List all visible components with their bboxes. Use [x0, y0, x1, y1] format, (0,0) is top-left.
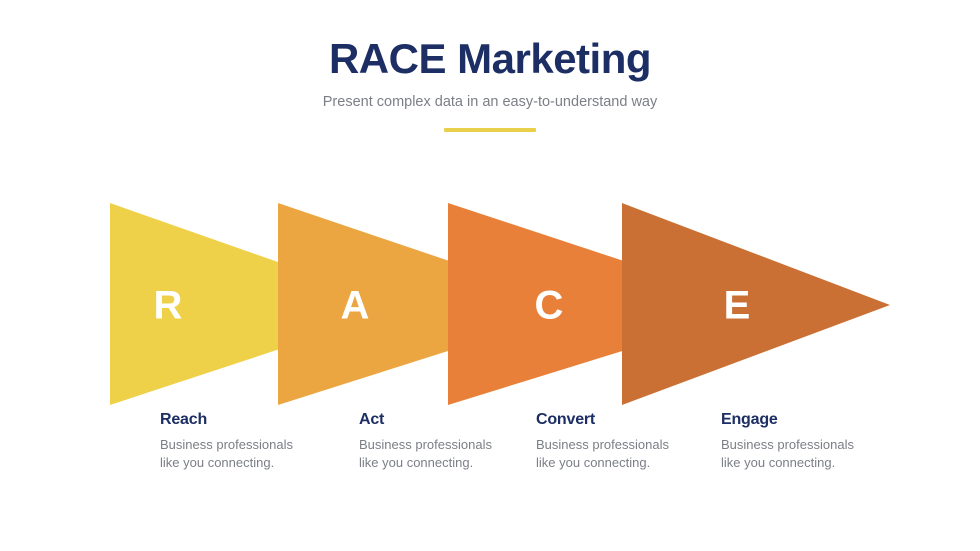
arrow-shape-act[interactable]: [278, 203, 470, 405]
caption-reach: Reach Business professionals like you co…: [160, 411, 335, 473]
arrow-letter-act: A: [341, 284, 370, 328]
caption-convert: Convert Business professionals like you …: [536, 411, 711, 473]
funnel-step-engage[interactable]: E: [622, 203, 890, 405]
caption-body-convert: Business professionals like you connecti…: [536, 436, 711, 473]
funnel-step-reach[interactable]: R: [110, 203, 295, 405]
slide-canvas: RACE Marketing Present complex data in a…: [0, 0, 980, 551]
caption-title-convert: Convert: [536, 411, 711, 429]
caption-title-reach: Reach: [160, 411, 335, 429]
arrow-shape-engage[interactable]: [622, 203, 890, 405]
caption-body-act: Business professionals like you connecti…: [359, 436, 534, 473]
caption-act: Act Business professionals like you conn…: [359, 411, 534, 473]
funnel-step-act[interactable]: A: [278, 203, 470, 405]
caption-title-engage: Engage: [721, 411, 896, 429]
caption-body-reach: Business professionals like you connecti…: [160, 436, 335, 473]
funnel-step-convert[interactable]: C: [448, 203, 645, 405]
arrow-letter-engage: E: [724, 284, 751, 328]
caption-engage: Engage Business professionals like you c…: [721, 411, 896, 473]
arrow-letter-convert: C: [535, 284, 564, 328]
caption-body-engage: Business professionals like you connecti…: [721, 436, 896, 473]
arrow-shape-reach[interactable]: [110, 203, 295, 405]
caption-title-act: Act: [359, 411, 534, 429]
arrow-letter-reach: R: [154, 284, 183, 328]
caption-row: Reach Business professionals like you co…: [0, 411, 980, 501]
